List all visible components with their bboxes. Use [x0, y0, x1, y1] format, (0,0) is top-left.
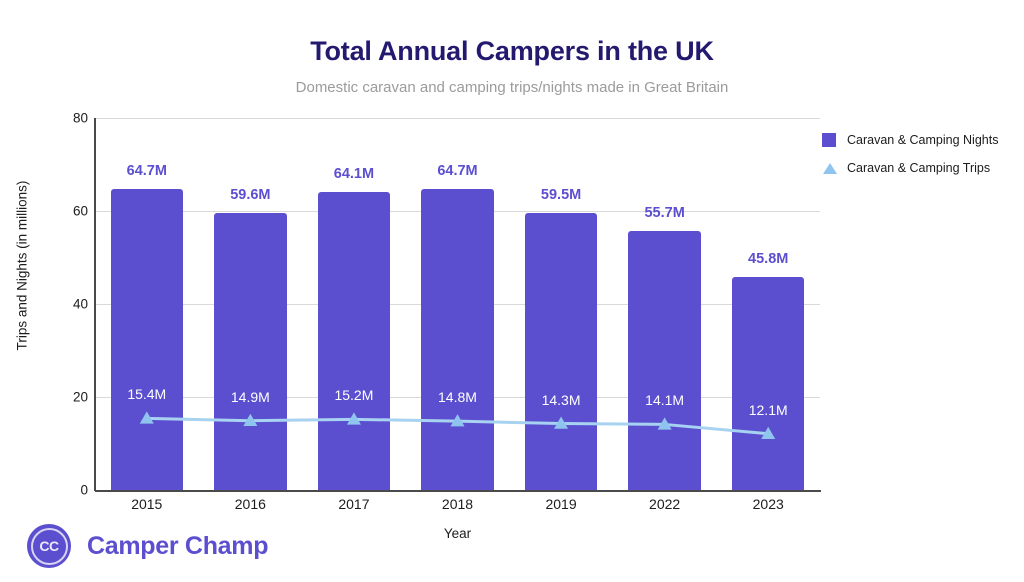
- x-axis-line: [95, 490, 821, 492]
- x-axis-tick-label: 2023: [716, 496, 820, 512]
- camper-champ-circle-icon: CC: [27, 524, 71, 568]
- brand-logo[interactable]: CC Camper Champ: [27, 524, 268, 568]
- x-axis-tick-label: 2022: [613, 496, 717, 512]
- legend-triangle-icon: [822, 161, 838, 175]
- y-axis-tick-label: 20: [28, 390, 88, 405]
- y-axis-tick-label: 0: [28, 483, 88, 498]
- legend-item-nights[interactable]: Caravan & Camping Nights: [822, 126, 1017, 154]
- page-title: Total Annual Campers in the UK: [0, 36, 1024, 67]
- y-axis-ticks: 020406080: [22, 118, 88, 490]
- x-axis-tick-label: 2015: [95, 496, 199, 512]
- y-axis-title: Trips and Nights (in millions): [15, 126, 30, 406]
- chart-subtitle: Domestic caravan and camping trips/night…: [0, 79, 1024, 96]
- x-axis-tick-label: 2017: [302, 496, 406, 512]
- x-axis-tick-label: 2018: [406, 496, 510, 512]
- y-axis-tick-label: 80: [28, 111, 88, 126]
- chart-legend: Caravan & Camping Nights Caravan & Campi…: [822, 126, 1017, 182]
- brand-name: Camper Champ: [87, 532, 268, 561]
- trips-line-series: [95, 118, 820, 490]
- x-axis-tick-label: 2016: [199, 496, 303, 512]
- legend-item-trips[interactable]: Caravan & Camping Trips: [822, 154, 1017, 182]
- legend-item-label: Caravan & Camping Nights: [847, 133, 998, 147]
- x-axis-tick-label: 2019: [509, 496, 613, 512]
- brand-monogram: CC: [31, 528, 68, 565]
- legend-square-icon: [822, 133, 836, 147]
- y-axis-tick-label: 60: [28, 204, 88, 219]
- y-axis-tick-label: 40: [28, 297, 88, 312]
- legend-item-label: Caravan & Camping Trips: [847, 161, 990, 175]
